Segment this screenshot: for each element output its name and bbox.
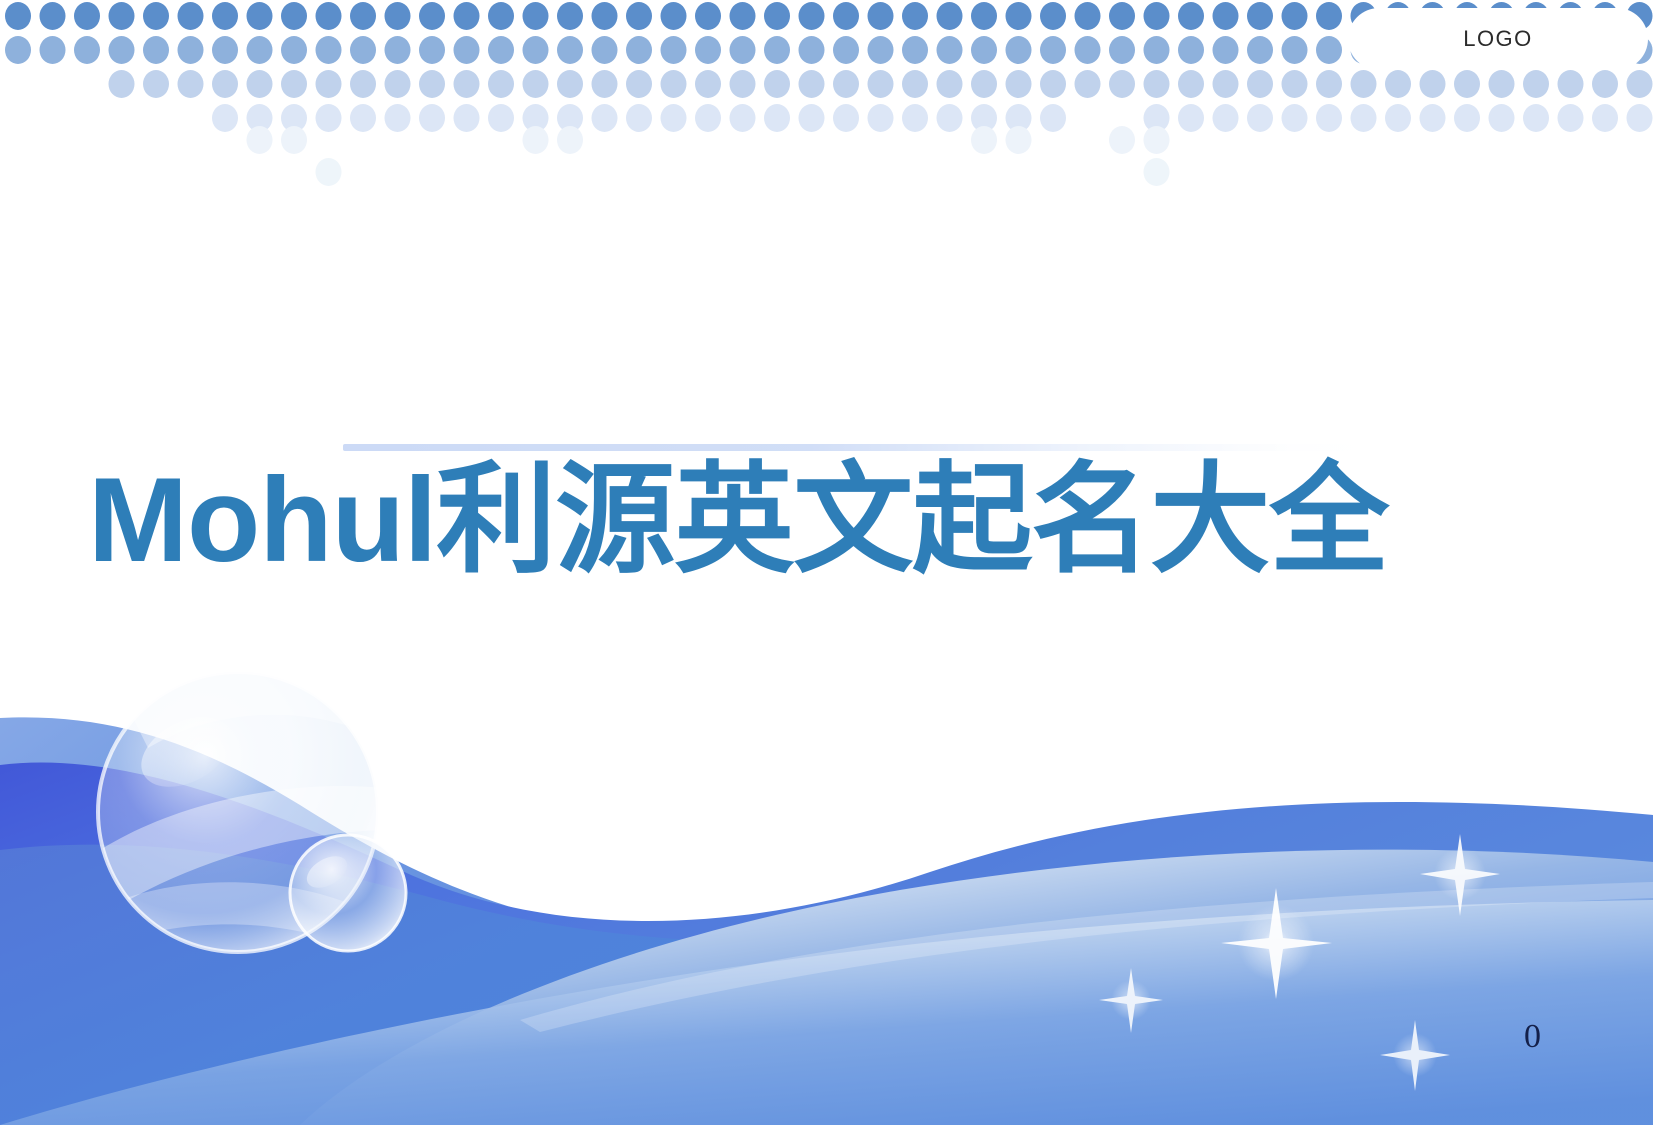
halftone-dot: [833, 70, 859, 98]
halftone-dot: [247, 70, 273, 98]
halftone-dot: [1213, 2, 1239, 30]
halftone-dot: [350, 36, 376, 64]
halftone-dot: [937, 70, 963, 98]
halftone-dot: [730, 2, 756, 30]
halftone-dot: [1316, 2, 1342, 30]
halftone-dot: [1109, 36, 1135, 64]
halftone-dot: [143, 70, 169, 98]
halftone-dot: [1627, 70, 1653, 98]
halftone-dot: [833, 104, 859, 132]
halftone-dot: [1213, 36, 1239, 64]
halftone-dot: [592, 36, 618, 64]
halftone-dot: [385, 36, 411, 64]
glass-bubble-small: [290, 835, 406, 951]
halftone-dot: [833, 2, 859, 30]
halftone-dot: [971, 2, 997, 30]
halftone-dot: [937, 104, 963, 132]
halftone-dot: [1213, 70, 1239, 98]
halftone-dot: [799, 70, 825, 98]
halftone-dot: [316, 104, 342, 132]
halftone-dot: [1282, 70, 1308, 98]
halftone-dot: [1040, 70, 1066, 98]
logo-label: LOGO: [1463, 26, 1533, 52]
halftone-dot: [281, 70, 307, 98]
halftone-dot: [799, 2, 825, 30]
halftone-dot: [626, 70, 652, 98]
halftone-dot: [695, 36, 721, 64]
halftone-dot: [937, 36, 963, 64]
halftone-dot: [1144, 2, 1170, 30]
wave-light-2: [0, 900, 1653, 1125]
halftone-dot: [799, 104, 825, 132]
halftone-dot: [557, 2, 583, 30]
halftone-dot: [350, 104, 376, 132]
halftone-dot: [523, 126, 549, 154]
halftone-dot: [109, 2, 135, 30]
halftone-dot: [1489, 70, 1515, 98]
halftone-dot: [1040, 36, 1066, 64]
halftone-dot: [5, 2, 31, 30]
halftone-dot: [350, 2, 376, 30]
halftone-dot: [1558, 104, 1584, 132]
star-sparkle: [1221, 888, 1332, 999]
halftone-dot: [1213, 104, 1239, 132]
halftone-dot: [454, 104, 480, 132]
halftone-dot: [1247, 2, 1273, 30]
halftone-dot: [74, 2, 100, 30]
halftone-dot: [109, 70, 135, 98]
halftone-dot: [1282, 104, 1308, 132]
halftone-dot: [350, 70, 376, 98]
halftone-dot: [1523, 70, 1549, 98]
halftone-dot: [1006, 126, 1032, 154]
halftone-dot: [799, 36, 825, 64]
halftone-dot: [247, 2, 273, 30]
halftone-dot: [385, 2, 411, 30]
halftone-dot: [488, 36, 514, 64]
halftone-dot: [868, 70, 894, 98]
halftone-dot: [1109, 126, 1135, 154]
halftone-dot: [212, 70, 238, 98]
halftone-dot: [902, 36, 928, 64]
halftone-dot: [419, 70, 445, 98]
wave-mid: [0, 845, 1653, 1125]
halftone-dot: [1075, 36, 1101, 64]
halftone-dot: [1385, 104, 1411, 132]
halftone-dot: [1385, 70, 1411, 98]
halftone-dot: [730, 36, 756, 64]
halftone-dot: [902, 2, 928, 30]
halftone-dot: [764, 2, 790, 30]
halftone-dot: [1420, 70, 1446, 98]
halftone-dot: [971, 36, 997, 64]
halftone-dot: [1144, 104, 1170, 132]
halftone-dot: [661, 2, 687, 30]
halftone-dot: [1178, 70, 1204, 98]
halftone-dot: [143, 36, 169, 64]
halftone-dot: [592, 104, 618, 132]
halftone-dot: [1282, 2, 1308, 30]
halftone-dot: [1316, 70, 1342, 98]
halftone-dot: [1109, 2, 1135, 30]
halftone-dot: [247, 104, 273, 132]
halftone-dot: [5, 36, 31, 64]
title-underline-rule: [343, 444, 1378, 451]
halftone-dot: [454, 2, 480, 30]
halftone-dot: [1627, 104, 1653, 132]
halftone-dot: [247, 126, 273, 154]
halftone-dot: [1247, 36, 1273, 64]
halftone-dot: [1144, 158, 1170, 186]
halftone-dot: [281, 36, 307, 64]
halftone-dot: [626, 104, 652, 132]
halftone-dot: [1006, 70, 1032, 98]
halftone-dot: [1006, 104, 1032, 132]
halftone-dot: [454, 36, 480, 64]
halftone-dot: [661, 36, 687, 64]
halftone-dot: [902, 70, 928, 98]
halftone-dot: [281, 126, 307, 154]
halftone-dot: [40, 36, 66, 64]
halftone-dot: [557, 70, 583, 98]
halftone-dot: [488, 104, 514, 132]
halftone-dot: [40, 2, 66, 30]
halftone-dot: [1040, 104, 1066, 132]
halftone-dot: [695, 70, 721, 98]
halftone-dot: [1592, 70, 1618, 98]
halftone-dot: [488, 70, 514, 98]
halftone-dot: [178, 36, 204, 64]
halftone-dot: [212, 104, 238, 132]
halftone-dot: [626, 2, 652, 30]
halftone-dot: [212, 2, 238, 30]
halftone-dot: [557, 104, 583, 132]
halftone-dot: [626, 36, 652, 64]
halftone-dot: [523, 104, 549, 132]
star-sparkle: [1380, 1020, 1450, 1091]
halftone-dot: [1075, 70, 1101, 98]
halftone-dot: [661, 104, 687, 132]
halftone-dot: [1454, 104, 1480, 132]
halftone-dot: [419, 2, 445, 30]
halftone-dot: [1144, 70, 1170, 98]
halftone-dot: [1040, 2, 1066, 30]
wave-crest-highlight: [520, 882, 1653, 1032]
halftone-dot: [419, 36, 445, 64]
halftone-dot: [868, 36, 894, 64]
halftone-dot: [1558, 70, 1584, 98]
halftone-dot: [1178, 104, 1204, 132]
halftone-dot: [1351, 70, 1377, 98]
halftone-dot: [316, 2, 342, 30]
halftone-dot: [764, 104, 790, 132]
halftone-dot: [1075, 2, 1101, 30]
halftone-dot: [385, 70, 411, 98]
halftone-dot: [1006, 2, 1032, 30]
halftone-dot: [178, 2, 204, 30]
halftone-dot: [557, 126, 583, 154]
page-number: 0: [1524, 1018, 1541, 1056]
halftone-dot: [1178, 36, 1204, 64]
halftone-dot: [1316, 104, 1342, 132]
halftone-dot: [1109, 70, 1135, 98]
halftone-dot: [74, 36, 100, 64]
logo-placeholder[interactable]: LOGO: [1348, 8, 1648, 70]
halftone-dot: [1316, 36, 1342, 64]
halftone-dot: [281, 104, 307, 132]
halftone-dot: [178, 70, 204, 98]
halftone-dot: [247, 36, 273, 64]
halftone-dot: [937, 2, 963, 30]
halftone-dot: [557, 36, 583, 64]
page-title: Mohul利源英文起名大全: [88, 456, 1588, 586]
halftone-dot: [764, 70, 790, 98]
presentation-slide: LOGO Mohul利源英文起名大全: [0, 0, 1653, 1125]
halftone-dot: [316, 158, 342, 186]
halftone-dot: [868, 104, 894, 132]
halftone-dot: [592, 70, 618, 98]
wave-light: [300, 850, 1653, 1125]
halftone-dot: [1006, 36, 1032, 64]
halftone-dot: [1144, 126, 1170, 154]
halftone-dot: [902, 104, 928, 132]
halftone-dot: [454, 70, 480, 98]
star-sparkle: [1420, 834, 1500, 916]
halftone-dot: [1351, 104, 1377, 132]
halftone-dot: [523, 70, 549, 98]
wave-deep: [0, 763, 1653, 1125]
halftone-dot: [316, 70, 342, 98]
halftone-dot: [1144, 36, 1170, 64]
glass-bubble-large: [98, 670, 420, 960]
halftone-dot: [868, 2, 894, 30]
halftone-dot: [1523, 104, 1549, 132]
halftone-dot: [971, 104, 997, 132]
bottom-wave-graphic: [0, 600, 1653, 1125]
halftone-dot: [488, 2, 514, 30]
halftone-dot: [143, 2, 169, 30]
halftone-dot: [109, 36, 135, 64]
halftone-dot: [592, 2, 618, 30]
halftone-dot: [1489, 104, 1515, 132]
halftone-dot: [695, 104, 721, 132]
halftone-dot: [1247, 104, 1273, 132]
halftone-dot: [1178, 2, 1204, 30]
halftone-dot: [730, 70, 756, 98]
halftone-dot: [1592, 104, 1618, 132]
halftone-dot: [385, 104, 411, 132]
halftone-dot: [971, 126, 997, 154]
halftone-dot: [1247, 70, 1273, 98]
halftone-dot: [419, 104, 445, 132]
halftone-dot: [316, 36, 342, 64]
halftone-dot: [212, 36, 238, 64]
halftone-dot: [695, 2, 721, 30]
halftone-dot: [523, 2, 549, 30]
halftone-dot: [523, 36, 549, 64]
halftone-dot: [1282, 36, 1308, 64]
halftone-dot: [730, 104, 756, 132]
halftone-dot: [971, 70, 997, 98]
halftone-dot: [1420, 104, 1446, 132]
halftone-dot: [661, 70, 687, 98]
star-sparkle: [1099, 968, 1163, 1033]
halftone-dot: [281, 2, 307, 30]
halftone-dot: [764, 36, 790, 64]
halftone-dot: [833, 36, 859, 64]
halftone-dot: [1454, 70, 1480, 98]
wave-back: [0, 717, 560, 920]
